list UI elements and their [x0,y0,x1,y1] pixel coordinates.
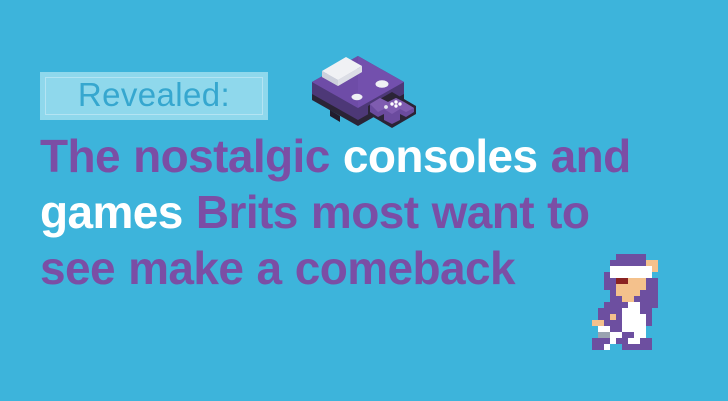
headline-line-2: games Brits most want to [40,184,700,240]
retro-console-icon [300,38,440,133]
headline-seg-brits-most-want-to: Brits most want to [183,186,590,238]
headline-seg-and: and [537,130,630,182]
hero-banner: Revealed: The nostalgic consoles and gam… [0,0,728,401]
headline-seg-games: games [40,186,183,238]
headline-line-1: The nostalgic consoles and [40,128,700,184]
headline-seg-see-make-a-comeback: see make a comeback [40,242,515,294]
headline-seg-the-nostalgic: The nostalgic [40,130,343,182]
pixel-character-sprite [586,248,682,356]
headline-seg-consoles: consoles [343,130,538,182]
revealed-badge-label: Revealed: [78,78,230,114]
revealed-badge: Revealed: [40,72,268,120]
